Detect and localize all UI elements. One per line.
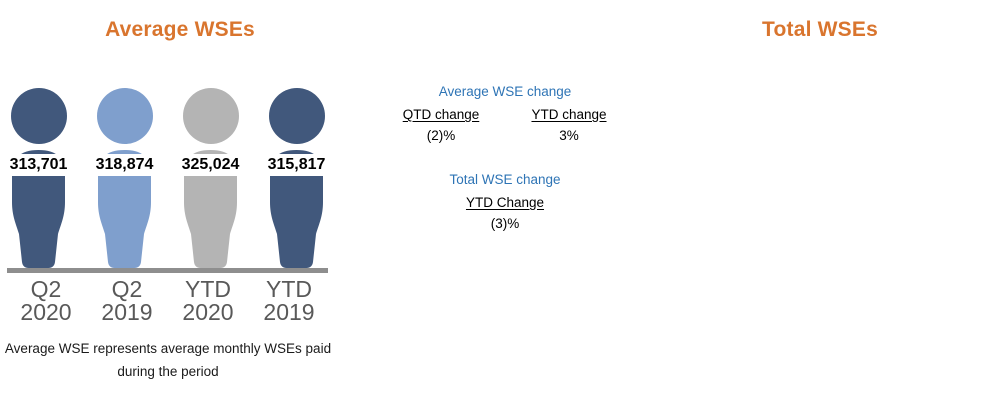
average-wses-panel: Average WSEs 313,701318,874325,024315,81…	[0, 0, 360, 420]
average-wses-caption: Average WSE represents average monthly W…	[0, 338, 336, 384]
average-wses-title: Average WSEs	[0, 18, 360, 42]
total-wse-change-group: Total WSE change YTD Change(3)%	[360, 172, 650, 231]
change-metric-label: QTD change	[391, 107, 491, 122]
person-head-icon	[269, 88, 325, 144]
change-metric-value: (2)%	[391, 128, 491, 143]
category-period: Q2	[7, 278, 85, 301]
category-year: 2019	[88, 301, 166, 324]
total-wses-title: Total WSEs	[650, 18, 990, 42]
category-period: YTD	[169, 278, 247, 301]
pictogram-value-label: 325,024	[180, 154, 242, 176]
average-wses-pictogram-group: 313,701318,874325,024315,817	[7, 88, 328, 268]
average-wse-change-columns: QTD change(2)%YTD change3%	[360, 107, 650, 143]
category-period: Q2	[88, 278, 166, 301]
change-metric-label: YTD change	[519, 107, 619, 122]
person-pictogram: 315,817	[265, 88, 328, 268]
category-label: Q22019	[88, 278, 166, 324]
change-metric-value: (3)%	[455, 216, 555, 231]
category-label: Q22020	[7, 278, 85, 324]
pictogram-value-label: 315,817	[266, 154, 328, 176]
person-pictogram: 313,701	[7, 88, 70, 268]
change-metric-value: 3%	[519, 128, 619, 143]
category-year: 2020	[169, 301, 247, 324]
person-pictogram: 318,874	[93, 88, 156, 268]
average-wse-change-group: Average WSE change QTD change(2)%YTD cha…	[360, 84, 650, 143]
person-head-icon	[97, 88, 153, 144]
person-pictogram: 325,024	[179, 88, 242, 268]
average-wse-change-heading: Average WSE change	[360, 84, 650, 99]
category-period: YTD	[250, 278, 328, 301]
average-wses-category-labels: Q22020Q22019YTD2020YTD2019	[7, 278, 328, 324]
category-year: 2020	[7, 301, 85, 324]
change-metric: QTD change(2)%	[391, 107, 491, 143]
average-wses-baseline	[7, 268, 328, 273]
total-wses-panel: Total WSEs 313,104323,957 YTD 2020YTD 20…	[650, 0, 990, 420]
category-year: 2019	[250, 301, 328, 324]
change-metrics-panel: Average WSE change QTD change(2)%YTD cha…	[360, 0, 650, 420]
total-wse-change-heading: Total WSE change	[360, 172, 650, 187]
category-label: YTD2020	[169, 278, 247, 324]
person-head-icon	[11, 88, 67, 144]
change-metric: YTD change3%	[519, 107, 619, 143]
change-metric: YTD Change(3)%	[455, 195, 555, 231]
change-metric-label: YTD Change	[455, 195, 555, 210]
pictogram-value-label: 318,874	[94, 154, 156, 176]
total-wse-change-columns: YTD Change(3)%	[360, 195, 650, 231]
category-label: YTD2019	[250, 278, 328, 324]
pictogram-value-label: 313,701	[8, 154, 70, 176]
person-head-icon	[183, 88, 239, 144]
